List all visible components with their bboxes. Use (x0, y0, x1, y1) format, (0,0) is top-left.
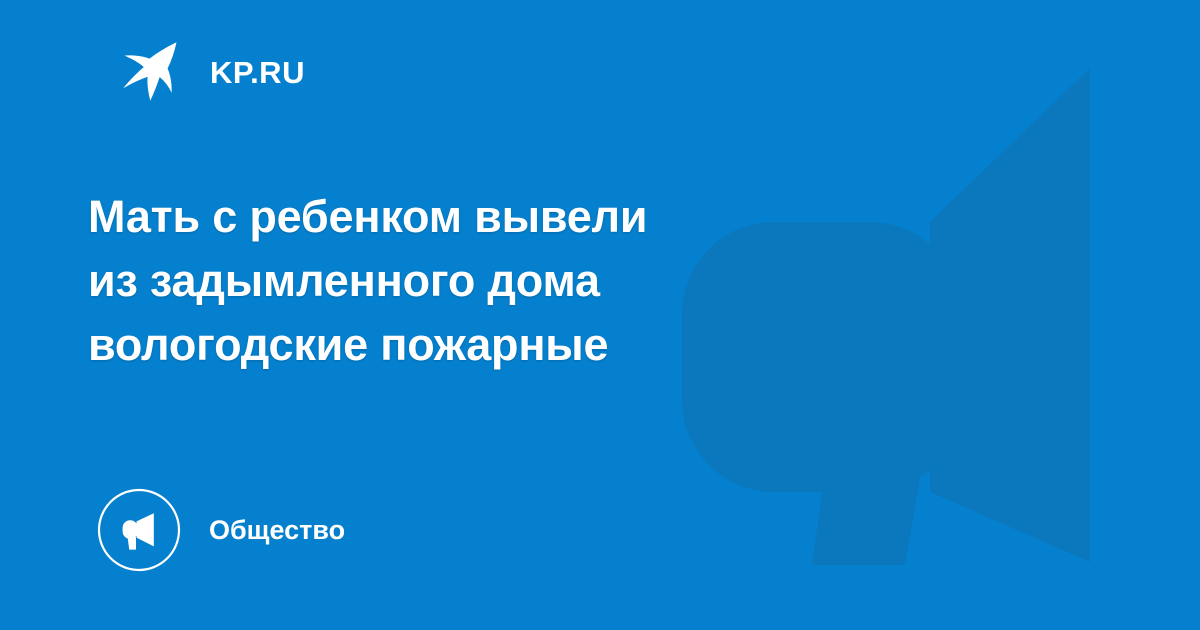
brand-lockup[interactable]: KP.RU (108, 36, 305, 108)
headline-line-1: Мать с ребенком вывели (88, 185, 888, 249)
brand-name: KP.RU (210, 57, 305, 88)
headline-line-2: из задымленного дома (88, 249, 888, 313)
megaphone-icon (96, 487, 182, 573)
category-tag[interactable]: Общество (96, 484, 345, 576)
page-title: Мать с ребенком вывели из задымленного д… (88, 185, 888, 377)
article-share-card: KP.RU Мать с ребенком вывели из задымлен… (0, 0, 1200, 630)
swallow-bird-icon (108, 36, 180, 108)
headline-line-3: вологодские пожарные (88, 313, 888, 377)
category-label: Общество (209, 517, 345, 544)
